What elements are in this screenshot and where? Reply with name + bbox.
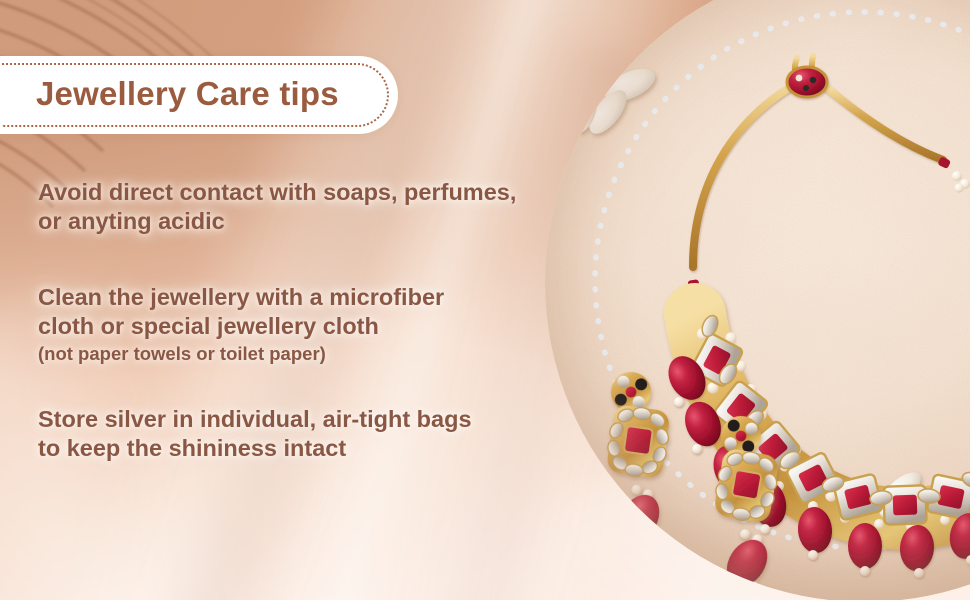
care-tip-item: Avoid direct contact with soaps, perfume… (38, 178, 558, 237)
jewellery-care-tips-banner: Jewellery Care tips Avoid direct contact… (0, 0, 970, 600)
care-tip-line: cloth or special jewellery cloth (38, 312, 558, 341)
jewellery-photo (545, 0, 970, 600)
care-tip-line: or anyting acidic (38, 207, 558, 236)
care-tip-item: Clean the jewellery with a microfiber cl… (38, 283, 558, 365)
pearl-collar (690, 171, 970, 317)
kundan-earring-left (590, 369, 685, 551)
care-tips-list: Avoid direct contact with soaps, perfume… (38, 178, 558, 463)
jewellery-artwork (545, 0, 970, 600)
care-tip-line: Store silver in individual, air-tight ba… (38, 405, 558, 434)
kundan-necklace (661, 160, 970, 578)
care-tip-item: Store silver in individual, air-tight ba… (38, 405, 558, 464)
page-title: Jewellery Care tips (36, 75, 339, 113)
care-tip-line: to keep the shininess intact (38, 434, 558, 463)
necklace-cord (687, 56, 970, 317)
care-tip-subnote: (not paper towels or toilet paper) (38, 342, 558, 365)
white-flower-petals (568, 61, 660, 140)
title-banner: Jewellery Care tips (0, 56, 398, 134)
clasp-bead (787, 67, 827, 97)
care-tip-line: Avoid direct contact with soaps, perfume… (38, 178, 558, 207)
care-tip-line: Clean the jewellery with a microfiber (38, 283, 558, 312)
